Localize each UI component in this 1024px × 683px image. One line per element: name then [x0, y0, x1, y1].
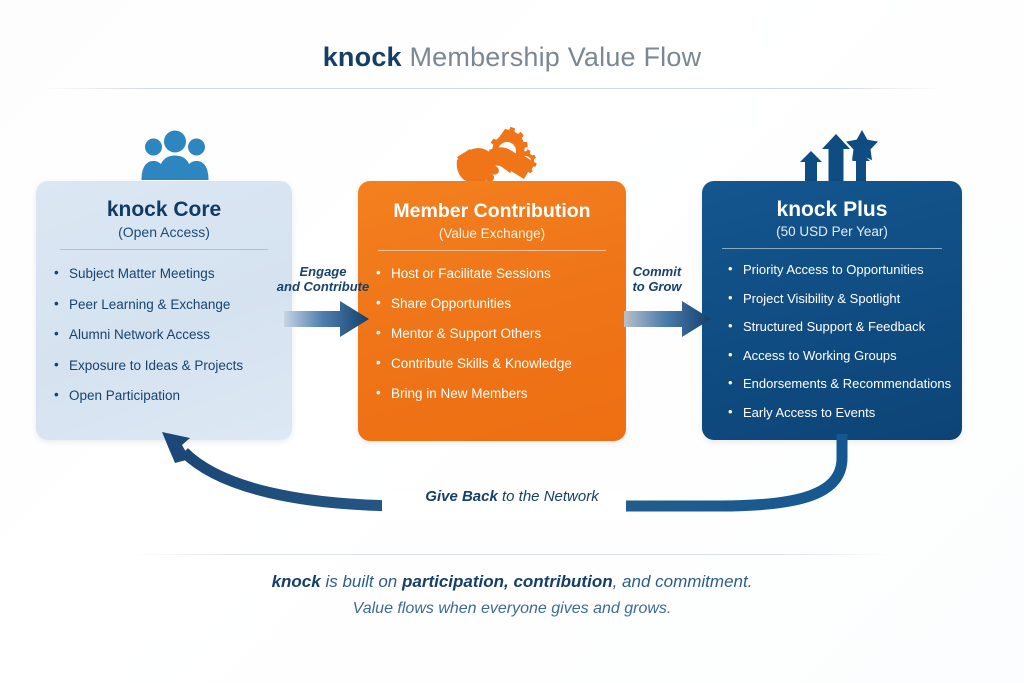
connector-label-line2: to Grow	[607, 279, 707, 294]
title-divider	[42, 88, 942, 89]
arrow-engage-and-contribute	[284, 300, 370, 338]
card-member-contribution[interactable]: Member Contribution (Value Exchange) Hos…	[358, 181, 626, 441]
arrow-commit-to-grow	[624, 300, 712, 338]
card-divider	[722, 248, 942, 249]
diagram-canvas: knock Membership Value Flow	[0, 0, 1024, 683]
card-title: knock Plus	[716, 198, 948, 222]
card-subtitle: (50 USD Per Year)	[716, 224, 948, 239]
list-item: Share Opportunities	[374, 296, 610, 311]
footer-divider	[133, 554, 891, 555]
page-title: knock Membership Value Flow	[0, 42, 1024, 73]
loop-label: Give Back to the Network	[0, 488, 1024, 505]
benefit-list: Host or Facilitate Sessions Share Opport…	[374, 266, 610, 401]
card-divider	[60, 249, 268, 250]
footer-text-a: is built on	[321, 572, 402, 591]
list-item: Bring in New Members	[374, 386, 610, 401]
card-title: knock Core	[52, 198, 276, 222]
growth-arrows-star-icon	[798, 130, 878, 183]
list-item: Open Participation	[52, 388, 276, 403]
arrow-give-back-loop	[160, 432, 880, 524]
page-title-rest: Membership Value Flow	[402, 42, 702, 72]
list-item: Subject Matter Meetings	[52, 266, 276, 281]
handshake-gears-icon	[455, 127, 539, 185]
list-item: Mentor & Support Others	[374, 326, 610, 341]
list-item: Access to Working Groups	[726, 348, 948, 363]
list-item: Alumni Network Access	[52, 327, 276, 342]
connector-label-commit: Commit to Grow	[607, 264, 707, 294]
page-title-brand: knock	[323, 42, 402, 72]
connector-label-line2: and Contribute	[268, 279, 378, 294]
benefit-list: Subject Matter Meetings Peer Learning & …	[52, 266, 276, 403]
footer-text-b: , and commitment.	[613, 572, 753, 591]
footer-brand: knock	[272, 572, 321, 591]
connector-label-line1: Commit	[607, 264, 707, 279]
list-item: Endorsements & Recommendations	[726, 376, 948, 391]
card-knock-plus[interactable]: knock Plus (50 USD Per Year) Priority Ac…	[702, 181, 962, 440]
list-item: Early Access to Events	[726, 405, 948, 420]
card-knock-core[interactable]: knock Core (Open Access) Subject Matter …	[36, 181, 292, 440]
card-subtitle: (Value Exchange)	[374, 226, 610, 241]
list-item: Priority Access to Opportunities	[726, 262, 948, 277]
people-group-icon	[140, 130, 210, 182]
connector-label-engage: Engage and Contribute	[268, 264, 378, 294]
card-title: Member Contribution	[374, 200, 610, 223]
list-item: Contribute Skills & Knowledge	[374, 356, 610, 371]
card-subtitle: (Open Access)	[52, 224, 276, 240]
connector-label-line1: Engage	[268, 264, 378, 279]
list-item: Project Visibility & Spotlight	[726, 291, 948, 306]
footer-emphasis: participation, contribution	[402, 572, 613, 591]
list-item: Peer Learning & Exchange	[52, 297, 276, 312]
list-item: Host or Facilitate Sessions	[374, 266, 610, 281]
card-divider	[378, 250, 606, 251]
benefit-list: Priority Access to Opportunities Project…	[716, 262, 948, 420]
list-item: Structured Support & Feedback	[726, 319, 948, 334]
loop-label-strong: Give Back	[425, 488, 498, 505]
list-item: Exposure to Ideas & Projects	[52, 358, 276, 373]
footer-line-1: knock is built on participation, contrib…	[0, 572, 1024, 592]
footer-line-2: Value flows when everyone gives and grow…	[0, 600, 1024, 618]
loop-label-rest: to the Network	[498, 488, 599, 505]
